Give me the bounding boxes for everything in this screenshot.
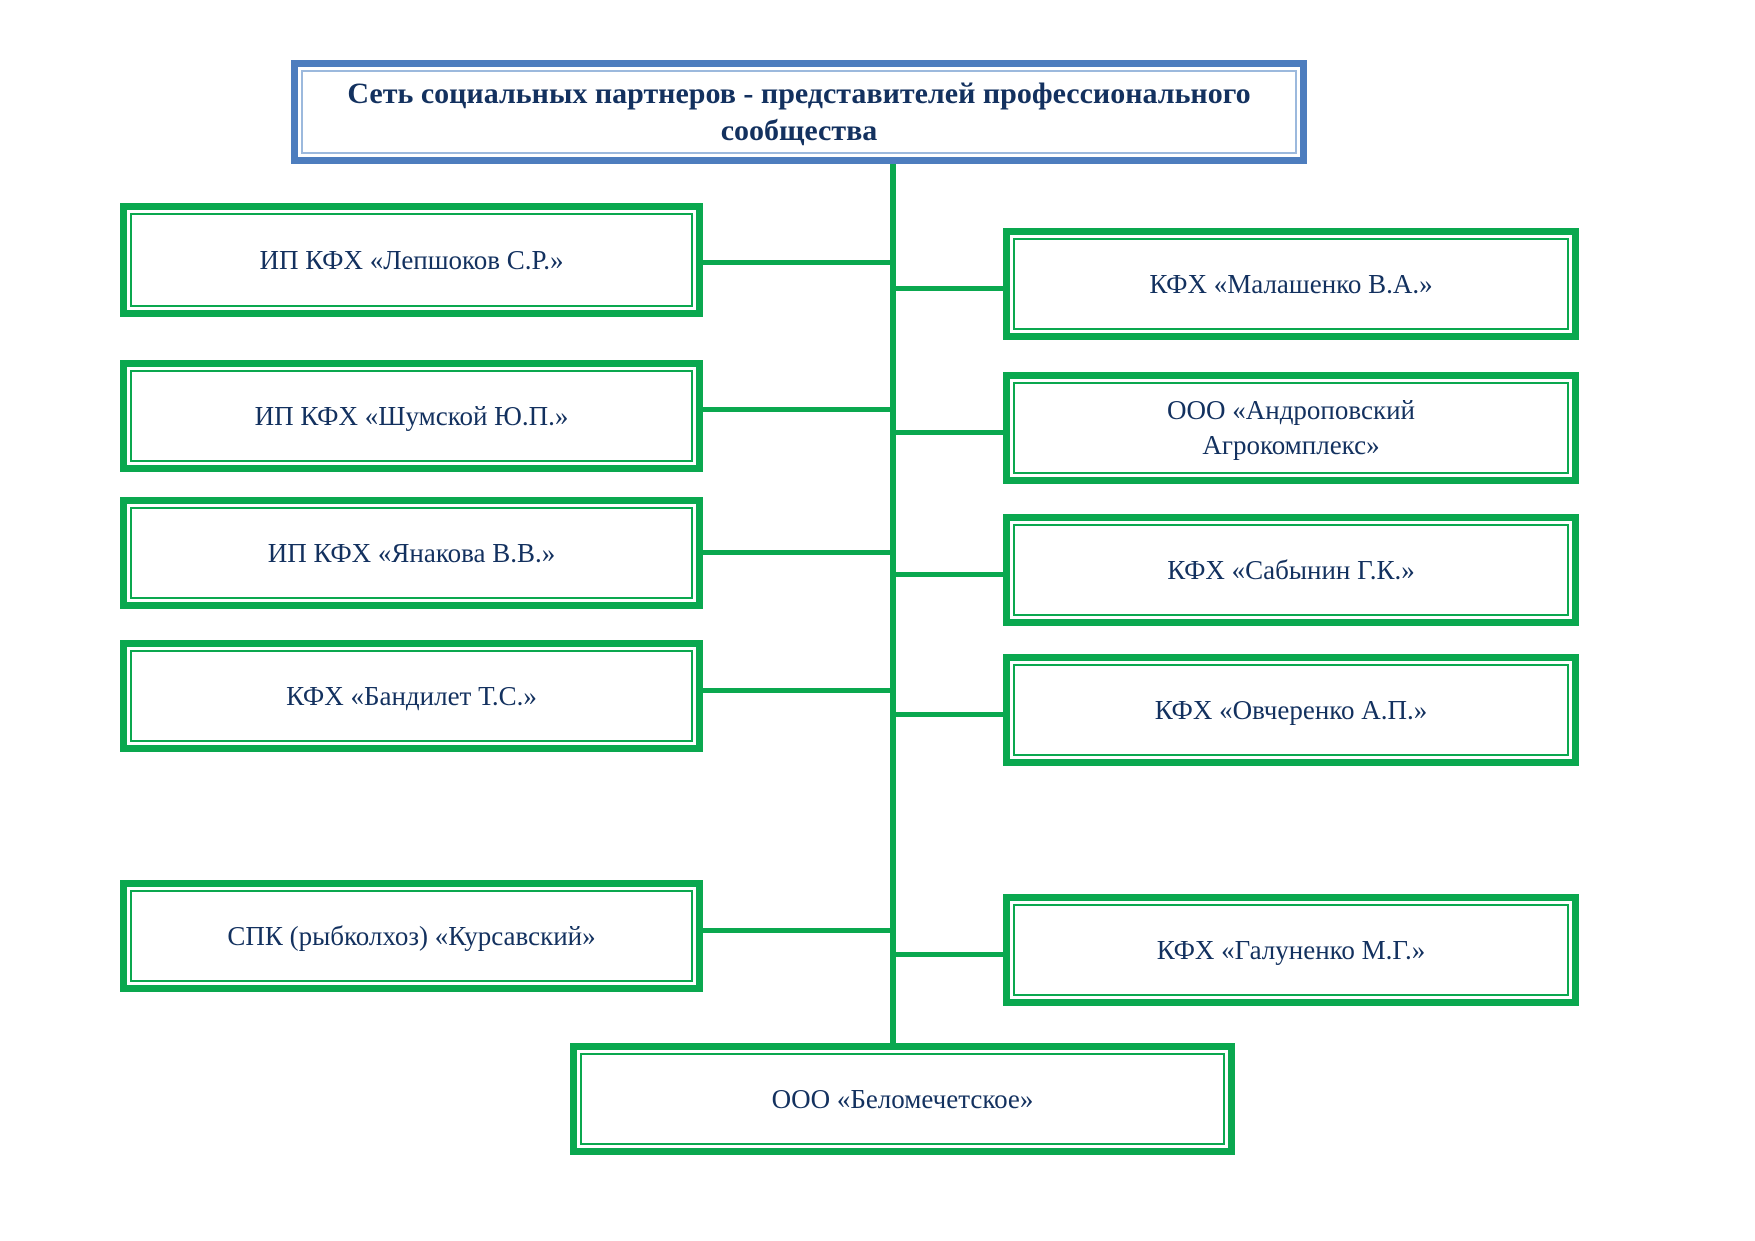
connector-left-3: [703, 550, 896, 555]
connector-left-1: [703, 260, 896, 265]
node-right-5-label: КФХ «Галуненко М.Г.»: [1139, 933, 1443, 968]
node-right-3[interactable]: КФХ «Сабынин Г.К.»: [1003, 514, 1579, 626]
diagram-title-text: Сеть социальных партнеров - представител…: [298, 75, 1300, 150]
node-left-3[interactable]: ИП КФХ «Янакова В.В.»: [120, 497, 703, 609]
node-left-4-label: КФХ «Бандилет Т.С.»: [268, 679, 555, 714]
node-left-5-label: СПК (рыбколхоз) «Курсавский»: [209, 919, 613, 954]
node-right-1[interactable]: КФХ «Малашенко В.А.»: [1003, 228, 1579, 340]
connector-right-1: [890, 286, 1005, 291]
node-right-5[interactable]: КФХ «Галуненко М.Г.»: [1003, 894, 1579, 1006]
connector-right-5: [890, 952, 1005, 957]
connector-left-2: [703, 407, 896, 412]
node-left-5[interactable]: СПК (рыбколхоз) «Курсавский»: [120, 880, 703, 992]
connector-right-4: [890, 712, 1005, 717]
connector-right-2: [890, 430, 1005, 435]
connector-trunk-vertical: [890, 164, 896, 1048]
diagram-title-box: Сеть социальных партнеров - представител…: [291, 60, 1307, 164]
connector-left-4: [703, 688, 896, 693]
connector-left-5: [703, 928, 896, 933]
node-right-2-label: ООО «Андроповский Агрокомплекс»: [1149, 393, 1433, 462]
node-left-4[interactable]: КФХ «Бандилет Т.С.»: [120, 640, 703, 752]
node-left-2-label: ИП КФХ «Шумской Ю.П.»: [237, 399, 587, 434]
node-left-3-label: ИП КФХ «Янакова В.В.»: [250, 536, 573, 571]
node-right-3-label: КФХ «Сабынин Г.К.»: [1149, 553, 1432, 588]
diagram-canvas: Сеть социальных партнеров - представител…: [0, 0, 1755, 1241]
connector-right-3: [890, 572, 1005, 577]
node-left-2[interactable]: ИП КФХ «Шумской Ю.П.»: [120, 360, 703, 472]
node-bottom[interactable]: ООО «Беломечетское»: [570, 1043, 1235, 1155]
node-left-1-label: ИП КФХ «Лепшоков С.Р.»: [242, 243, 582, 278]
node-bottom-label: ООО «Беломечетское»: [754, 1082, 1052, 1117]
node-right-1-label: КФХ «Малашенко В.А.»: [1131, 267, 1450, 302]
node-right-2[interactable]: ООО «Андроповский Агрокомплекс»: [1003, 372, 1579, 484]
node-right-4-label: КФХ «Овчеренко А.П.»: [1137, 693, 1446, 728]
node-left-1[interactable]: ИП КФХ «Лепшоков С.Р.»: [120, 203, 703, 317]
node-right-4[interactable]: КФХ «Овчеренко А.П.»: [1003, 654, 1579, 766]
